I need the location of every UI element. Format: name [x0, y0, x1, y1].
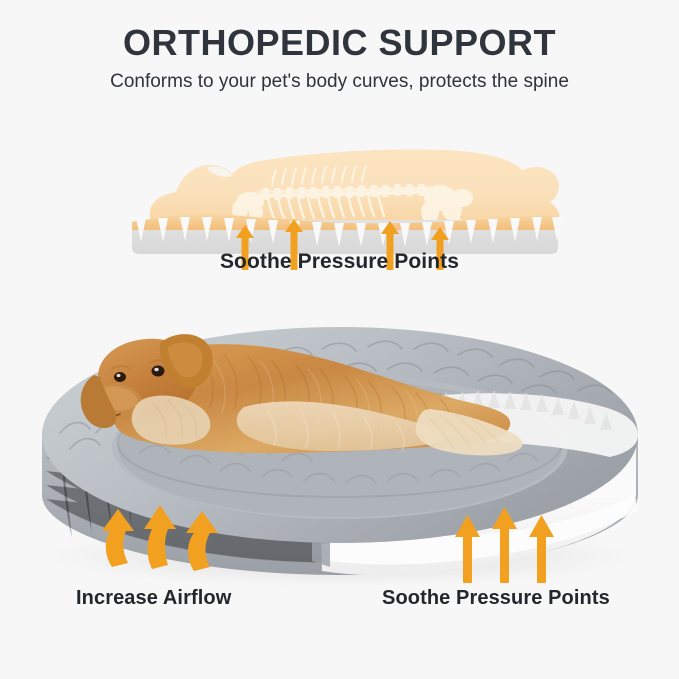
airflow-arrows	[102, 505, 218, 571]
product-feature-graphic: ORTHOPEDIC SUPPORT Conforms to your pet'…	[0, 0, 679, 679]
diagram-caption: Soothe Pressure Points	[0, 250, 679, 274]
dog-skeleton-illustration	[150, 150, 560, 223]
page-title: ORTHOPEDIC SUPPORT	[0, 20, 679, 66]
caption-increase-airflow: Increase Airflow	[76, 585, 231, 611]
caption-soothe-pressure-points: Soothe Pressure Points	[382, 585, 610, 611]
page-subtitle: Conforms to your pet's body curves, prot…	[0, 68, 679, 96]
product-photo	[0, 285, 679, 585]
